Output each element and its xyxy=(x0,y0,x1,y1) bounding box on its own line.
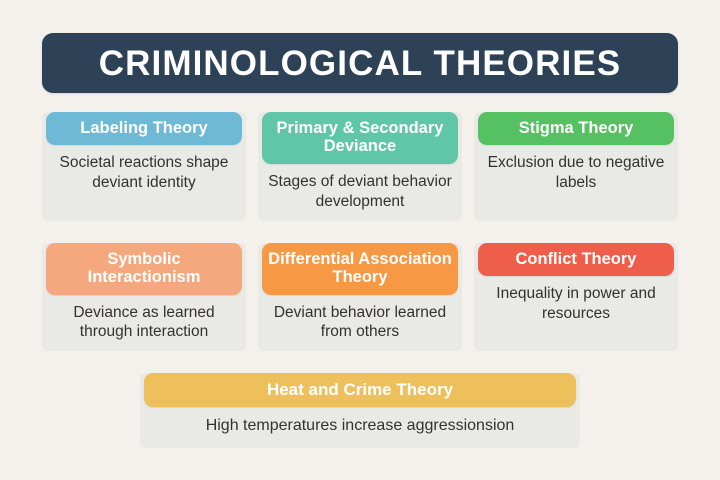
card-header-heat-and-crime-theory: Heat and Crime Theory xyxy=(144,373,576,407)
theory-card-conflict-theory: Conflict Theory Inequality in power and … xyxy=(474,243,678,352)
card-header-labeling-theory: Labeling Theory xyxy=(46,112,242,145)
card-header-symbolic-interactionism: Symbolic Interactionism xyxy=(46,243,242,295)
card-description-primary-secondary-deviance: Stages of deviant behavior development xyxy=(258,164,462,214)
card-description-labeling-theory: Societal reactions shape deviant identit… xyxy=(42,145,246,195)
theory-card-differential-association-theory: Differential Association Theory Deviant … xyxy=(258,243,462,352)
title-banner: CRIMINOLOGICAL THEORIES xyxy=(42,33,678,93)
theory-card-symbolic-interactionism: Symbolic Interactionism Deviance as lear… xyxy=(42,243,246,352)
card-description-stigma-theory: Exclusion due to negative labels xyxy=(474,145,678,195)
theory-card-grid: Labeling Theory Societal reactions shape… xyxy=(42,112,678,448)
page-title: CRIMINOLOGICAL THEORIES xyxy=(99,46,621,81)
card-description-conflict-theory: Inequality in power and resources xyxy=(474,276,678,326)
card-row-2: Symbolic Interactionism Deviance as lear… xyxy=(42,243,678,352)
theory-card-heat-and-crime-theory: Heat and Crime Theory High temperatures … xyxy=(140,373,580,448)
infographic-poster: CRIMINOLOGICAL THEORIES Labeling Theory … xyxy=(0,0,720,480)
theory-card-labeling-theory: Labeling Theory Societal reactions shape… xyxy=(42,112,246,221)
card-header-stigma-theory: Stigma Theory xyxy=(478,112,674,145)
card-row-1: Labeling Theory Societal reactions shape… xyxy=(42,112,678,221)
card-description-heat-and-crime-theory: High temperatures increase aggressionsio… xyxy=(200,407,521,440)
card-header-conflict-theory: Conflict Theory xyxy=(478,243,674,276)
card-header-differential-association-theory: Differential Association Theory xyxy=(262,243,458,295)
card-header-primary-secondary-deviance: Primary & Secondary Deviance xyxy=(262,112,458,164)
theory-card-stigma-theory: Stigma Theory Exclusion due to negative … xyxy=(474,112,678,221)
theory-card-primary-secondary-deviance: Primary & Secondary Deviance Stages of d… xyxy=(258,112,462,221)
card-description-differential-association-theory: Deviant behavior learned from others xyxy=(258,295,462,345)
card-description-symbolic-interactionism: Deviance as learned through interaction xyxy=(42,295,246,345)
card-row-3: Heat and Crime Theory High temperatures … xyxy=(42,373,678,448)
